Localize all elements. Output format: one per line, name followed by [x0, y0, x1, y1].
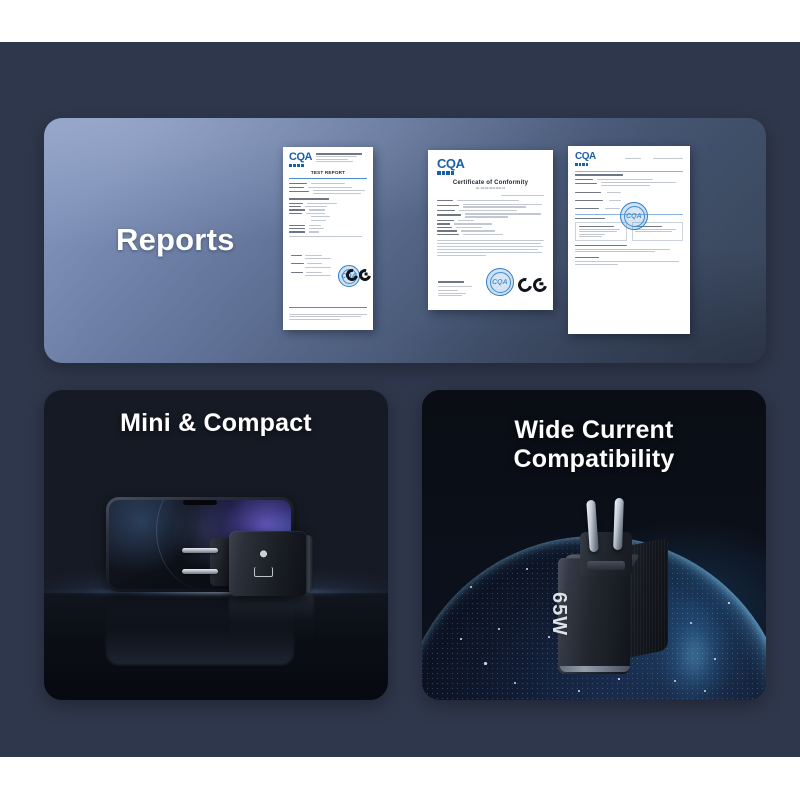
- doc-heading: TEST REPORT: [289, 170, 367, 175]
- cqa-stamp: CQA: [486, 268, 514, 296]
- cqa-logo: CQA: [575, 152, 596, 166]
- cqa-wordmark: CQA: [437, 157, 544, 170]
- certificate-of-conformity[interactable]: CQA Certificate of Conformity No. CE-SZ-…: [428, 150, 553, 310]
- reports-title: Reports: [116, 222, 235, 258]
- doc-field-list: [289, 183, 367, 194]
- cqa-logo: CQA: [289, 152, 312, 167]
- phone-notch: [183, 500, 217, 505]
- cqa-stamp: CQA: [620, 202, 648, 230]
- doc-field-list: [575, 174, 683, 185]
- doc-body: CQA: [568, 146, 690, 334]
- plug-base: [580, 532, 632, 576]
- doc-section-list: [289, 203, 367, 221]
- plug-prong-bottom: [182, 569, 218, 574]
- doc-signature-block: [291, 255, 341, 276]
- wide-current-title-line-1: Wide Current: [422, 416, 766, 445]
- wide-current-title: Wide Current Compatibility: [422, 416, 766, 474]
- brand-logo-icon: [250, 545, 276, 579]
- charger-product-image: 65W: [558, 540, 672, 674]
- doc-body: CQA Certificate of Conformity No. CE-SZ-…: [428, 150, 553, 310]
- cqa-wordmark: CQA: [289, 152, 312, 163]
- doc-rating-list: [289, 225, 367, 233]
- feature-panel-wide-current: 65W Wide Current Compatibility: [422, 390, 766, 700]
- stamp-text: CQA: [492, 279, 509, 286]
- charger-reflection: [229, 593, 314, 645]
- doc-notes: [575, 245, 683, 252]
- charger-wattage-label: 65W: [547, 592, 570, 636]
- screenshot-stage: Reports CQA TEST REPORT: [0, 0, 800, 800]
- doc-signature-block: [438, 281, 478, 296]
- doc-field-list: [437, 200, 544, 235]
- ce-mark-icon: [518, 278, 547, 292]
- doc-remarks: [575, 257, 683, 264]
- cqa-subscript: [437, 171, 544, 175]
- certificate-test-report[interactable]: CQA TEST REPORT: [283, 147, 373, 330]
- wide-current-title-line-2: Compatibility: [422, 445, 766, 474]
- cqa-subscript: [289, 164, 312, 167]
- feature-panel-mini-compact: Mini & Compact: [44, 390, 388, 700]
- doc-footer: [289, 314, 367, 320]
- cqa-wordmark: CQA: [575, 152, 596, 162]
- doc-paragraph: [437, 240, 544, 256]
- charger-bottom-trim: [560, 666, 630, 672]
- certificate-declaration[interactable]: CQA: [568, 146, 690, 334]
- plug-prong-top: [182, 548, 218, 553]
- doc-body: CQA TEST REPORT: [283, 147, 373, 330]
- charger-product-image: [229, 531, 307, 596]
- mini-compact-title: Mini & Compact: [44, 409, 388, 438]
- stamp-text: CQA: [626, 213, 643, 220]
- ce-mark-icon: [346, 269, 371, 281]
- cqa-subscript: [575, 163, 596, 166]
- cqa-logo: CQA: [437, 157, 544, 175]
- doc-subheading: No. CE-SZ-2023-0011-01: [437, 187, 544, 190]
- doc-heading: Certificate of Conformity: [437, 180, 544, 186]
- plug-pin-right: [613, 498, 624, 550]
